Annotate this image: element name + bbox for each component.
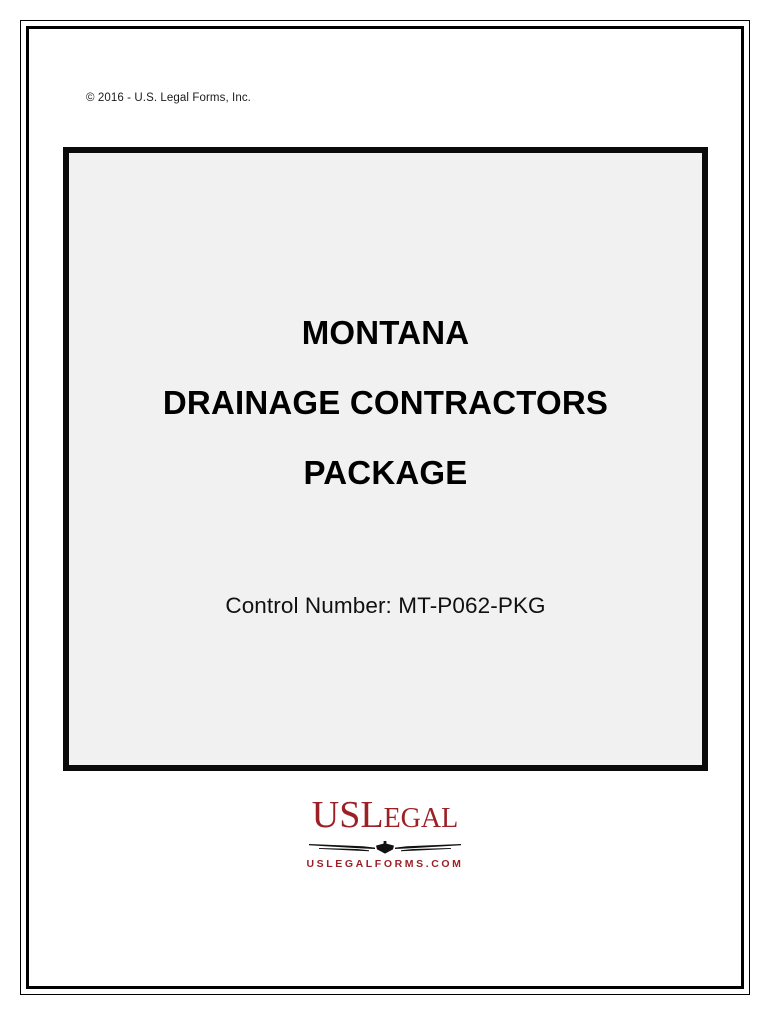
uslegal-tagline: USLEGALFORMS.COM: [0, 858, 770, 871]
copyright-notice: © 2016 - U.S. Legal Forms, Inc.: [86, 92, 251, 104]
title-line-package: PACKAGE: [69, 438, 702, 508]
wordmark-us: US: [312, 794, 361, 836]
uslegal-logo: USLEGAL USLEGALFORMS.COM: [0, 795, 770, 871]
title-line-category: DRAINAGE CONTRACTORS: [69, 368, 702, 438]
uslegal-wordmark: USLEGAL: [0, 795, 770, 839]
wordmark-l: L: [360, 794, 383, 836]
eagle-wings-icon: [307, 840, 463, 857]
document-page: © 2016 - U.S. Legal Forms, Inc. MONTANA …: [0, 0, 770, 1024]
title-line-state: MONTANA: [69, 298, 702, 368]
title-panel: MONTANA DRAINAGE CONTRACTORS PACKAGE Con…: [63, 147, 708, 771]
control-number: Control Number: MT-P062-PKG: [69, 593, 702, 619]
title-block: MONTANA DRAINAGE CONTRACTORS PACKAGE: [69, 298, 702, 508]
wordmark-egal: EGAL: [384, 803, 459, 834]
